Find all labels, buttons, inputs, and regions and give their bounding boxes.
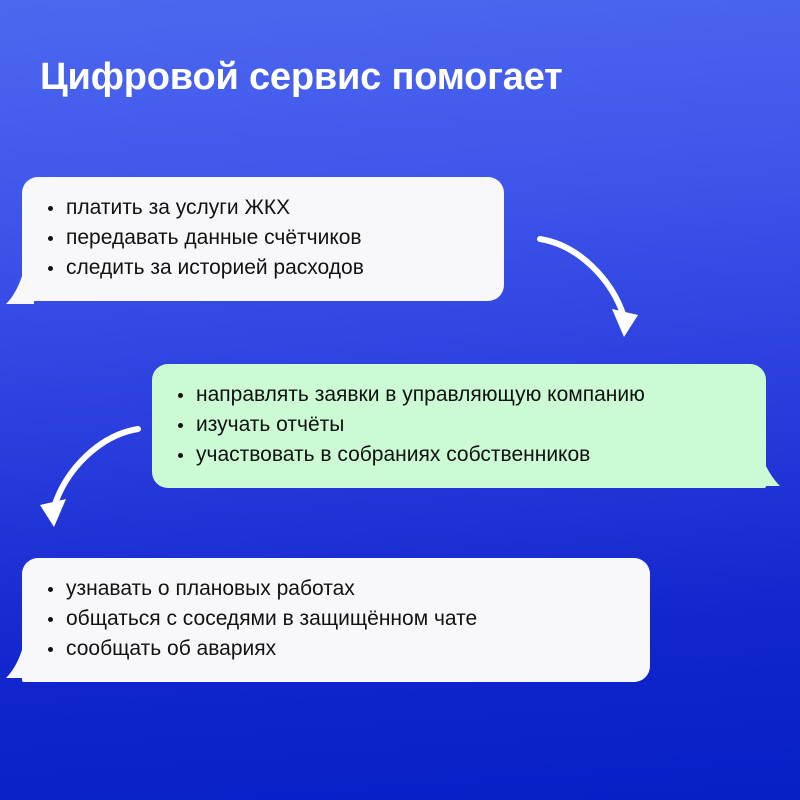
arrow-down-left-icon (28, 415, 158, 545)
poster-canvas: Цифровой сервис помогает платить за услу… (0, 0, 800, 800)
bubble-3-item-0: узнавать о плановых работах (46, 574, 626, 604)
bubble-2-item-2: участвовать в собраниях собственников (176, 440, 742, 470)
bubble-1: платить за услуги ЖКХ передавать данные … (22, 177, 504, 301)
bubble-3: узнавать о плановых работах общаться с с… (22, 558, 650, 682)
bubble-2-item-0: направлять заявки в управляющую компанию (176, 380, 742, 410)
bubble-1-item-2: следить за историей расходов (46, 253, 480, 283)
bubble-1-item-1: передавать данные счётчиков (46, 223, 480, 253)
bubble-2: направлять заявки в управляющую компанию… (152, 364, 766, 488)
bubble-3-item-2: сообщать об авариях (46, 634, 626, 664)
bubble-3-item-1: общаться с соседями в защищённом чате (46, 604, 626, 634)
bubble-1-item-0: платить за услуги ЖКХ (46, 193, 480, 223)
page-title: Цифровой сервис помогает (40, 56, 740, 100)
arrow-down-right-icon (520, 225, 650, 355)
bubble-2-item-1: изучать отчёты (176, 410, 742, 440)
